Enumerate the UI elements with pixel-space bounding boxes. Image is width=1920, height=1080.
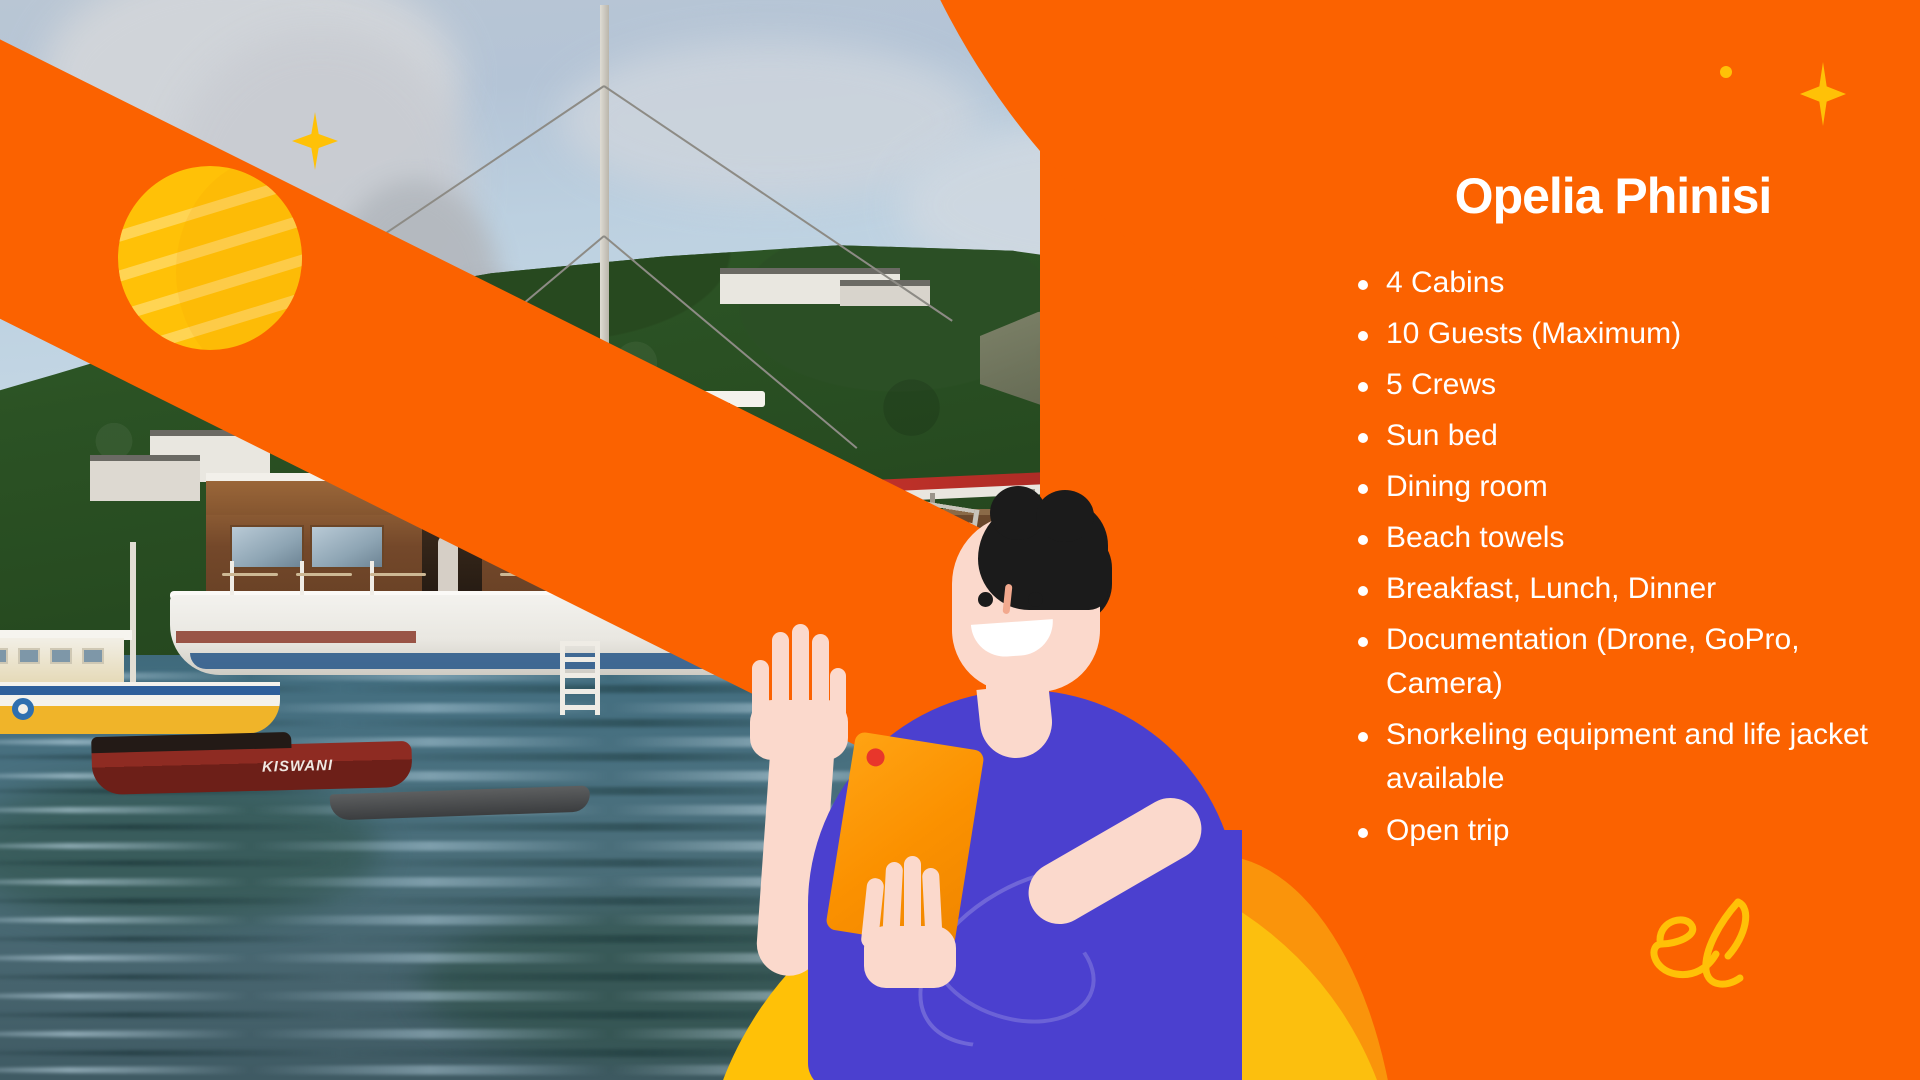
eye-icon xyxy=(978,592,993,607)
planet-icon xyxy=(118,166,302,350)
holding-hand xyxy=(858,856,968,986)
feature-item: Sun bed xyxy=(1340,414,1900,458)
skiff-name: KISWANI xyxy=(262,757,334,776)
character-illustration xyxy=(690,500,1310,1080)
hillside-building xyxy=(840,280,930,306)
eye-icon xyxy=(1028,592,1043,607)
feature-item: Documentation (Drone, GoPro, Camera) xyxy=(1340,618,1900,706)
red-skiff: KISWANI xyxy=(91,741,412,795)
feature-item: Dining room xyxy=(1340,465,1900,509)
feature-item: Open trip xyxy=(1340,809,1900,853)
waving-hand xyxy=(748,624,854,734)
camera-dot-icon xyxy=(865,747,886,768)
feature-item: Breakfast, Lunch, Dinner xyxy=(1340,567,1900,611)
slide-canvas: KISWANI xyxy=(0,0,1920,1080)
gangway xyxy=(560,641,600,715)
feature-item: Beach towels xyxy=(1340,516,1900,560)
feature-item: 5 Crews xyxy=(1340,363,1900,407)
dot-icon xyxy=(1720,66,1732,78)
brand-logo xyxy=(1642,888,1772,998)
feature-item: 4 Cabins xyxy=(1340,261,1900,305)
info-panel: Opelia Phinisi 4 Cabins10 Guests (Maximu… xyxy=(1340,170,1900,860)
page-title: Opelia Phinisi xyxy=(1340,170,1900,223)
feature-item: Snorkeling equipment and life jacket ava… xyxy=(1340,713,1900,801)
feature-list: 4 Cabins10 Guests (Maximum)5 CrewsSun be… xyxy=(1340,261,1900,853)
feature-item: 10 Guests (Maximum) xyxy=(1340,312,1900,356)
